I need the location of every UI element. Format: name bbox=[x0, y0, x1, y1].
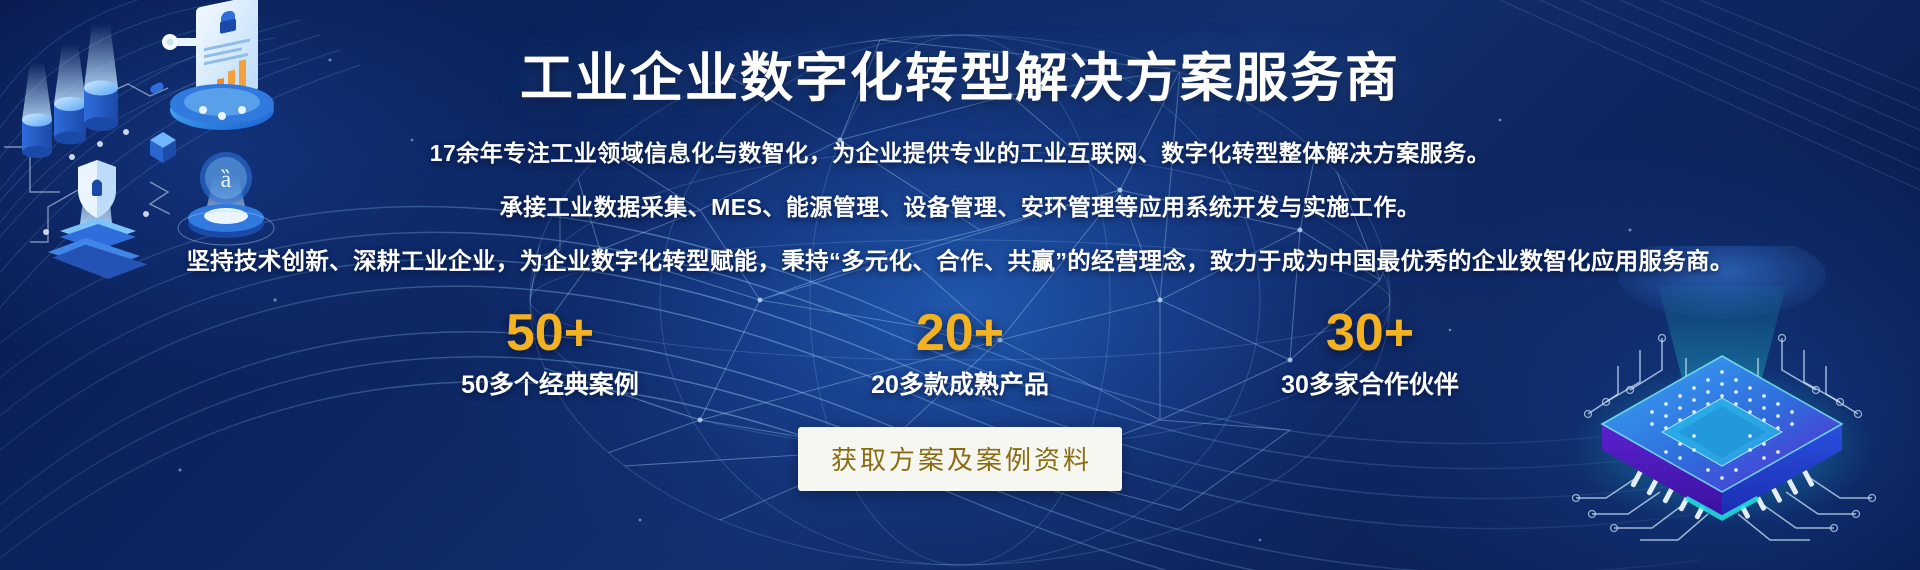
banner-content: 工业企业数字化转型解决方案服务商 17余年专注工业领域信息化与数智化，为企业提供… bbox=[0, 0, 1920, 570]
subtitle-line-2: 承接工业数据采集、MES、能源管理、设备管理、安环管理等应用系统开发与实施工作。 bbox=[500, 188, 1421, 222]
stat-label: 20多款成熟产品 bbox=[871, 365, 1049, 401]
stats-row: 50+ 50多个经典案例 20+ 20多款成熟产品 30+ 30多家合作伙伴 bbox=[420, 306, 1500, 401]
stat-item-partners: 30+ 30多家合作伙伴 bbox=[1240, 306, 1500, 401]
stat-number: 50+ bbox=[506, 306, 594, 361]
stat-number: 30+ bbox=[1326, 306, 1414, 361]
subtitle-line-3: 坚持技术创新、深耕工业企业，为企业数字化转型赋能，秉持“多元化、合作、共赢”的经… bbox=[186, 242, 1733, 276]
promo-banner: ȁ bbox=[0, 0, 1920, 570]
subtitle-line-1: 17余年专注工业领域信息化与数智化，为企业提供专业的工业互联网、数字化转型整体解… bbox=[430, 134, 1491, 168]
stat-item-products: 20+ 20多款成熟产品 bbox=[830, 306, 1090, 401]
stat-label: 30多家合作伙伴 bbox=[1281, 365, 1459, 401]
get-solution-button[interactable]: 获取方案及案例资料 bbox=[798, 427, 1122, 491]
stat-item-cases: 50+ 50多个经典案例 bbox=[420, 306, 680, 401]
page-title: 工业企业数字化转型解决方案服务商 bbox=[520, 36, 1400, 112]
stat-label: 50多个经典案例 bbox=[461, 365, 639, 401]
stat-number: 20+ bbox=[916, 306, 1004, 361]
